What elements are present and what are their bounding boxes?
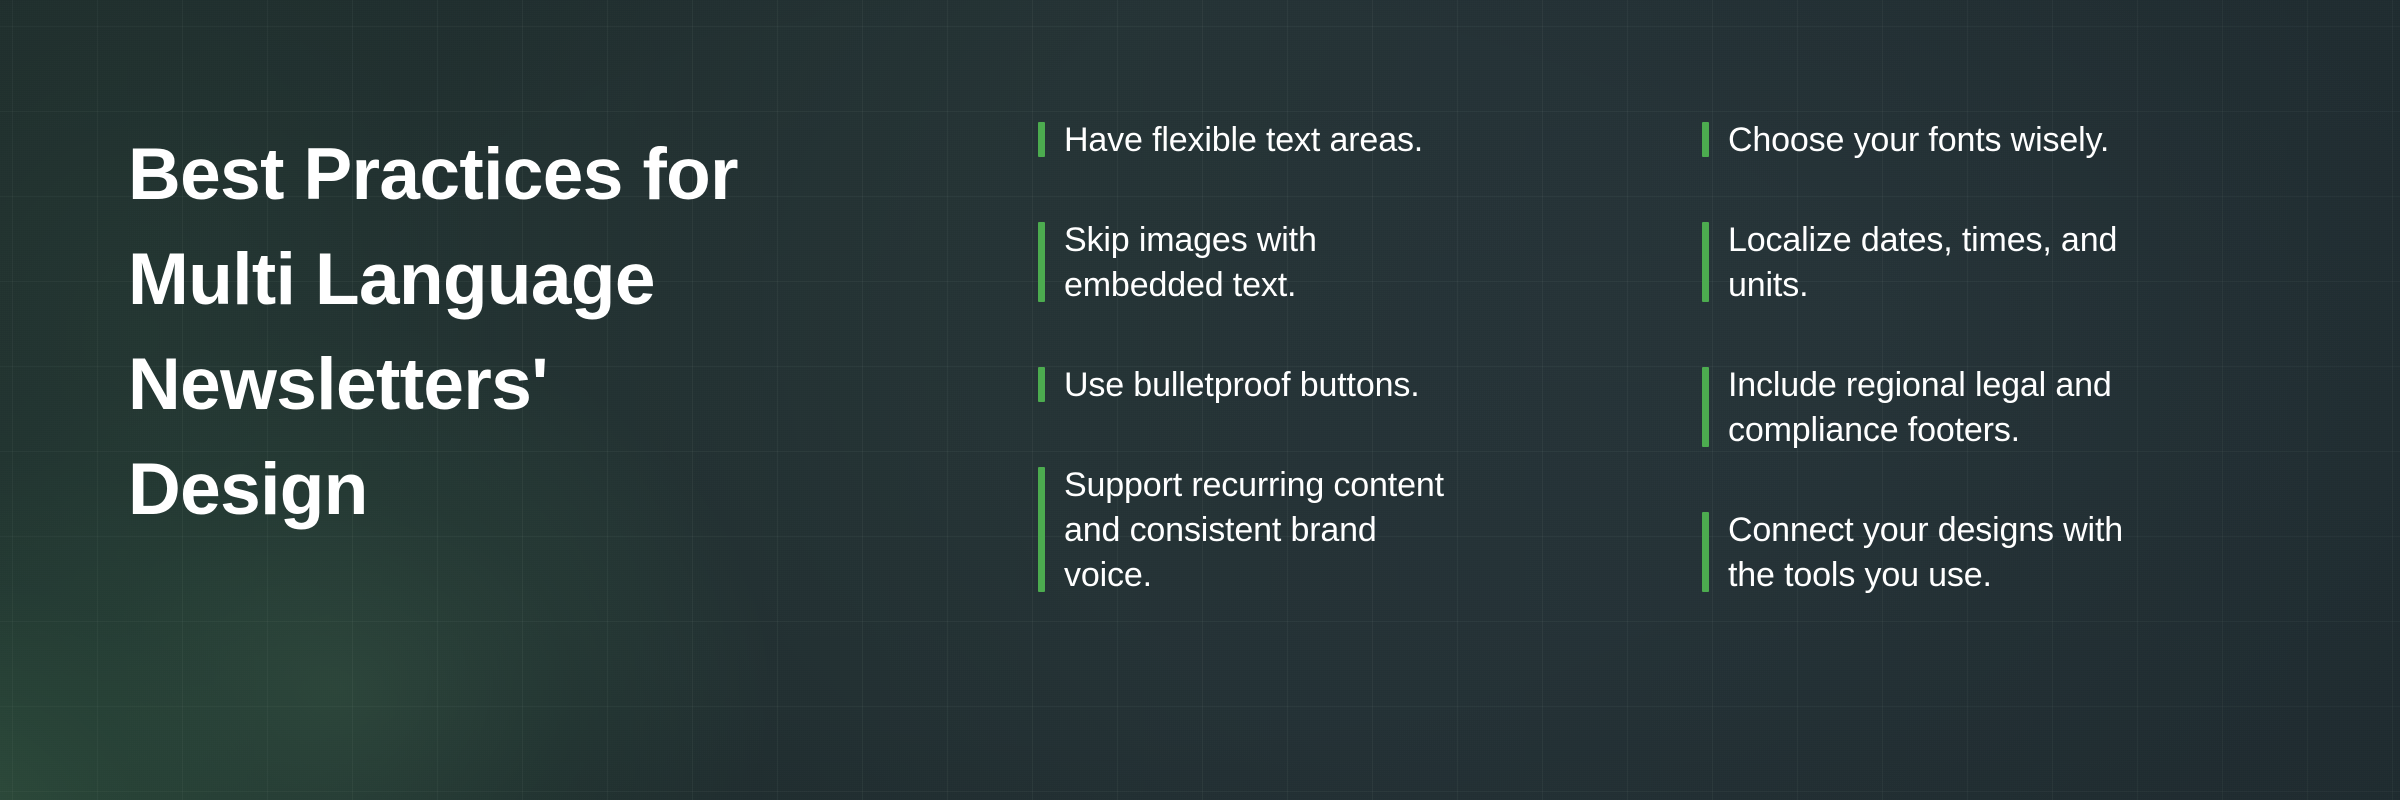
accent-bar-icon <box>1038 367 1045 402</box>
tips-column-middle: Have flexible text areas. Skip images wi… <box>1038 118 1638 598</box>
accent-bar-icon <box>1038 467 1045 592</box>
accent-bar-icon <box>1702 512 1709 592</box>
list-item-label: Include regional legal and compliance fo… <box>1728 363 2112 453</box>
list-item-label: Have flexible text areas. <box>1064 118 1423 163</box>
accent-bar-icon <box>1702 122 1709 157</box>
list-item: Support recurring content and consistent… <box>1038 463 1638 598</box>
accent-bar-icon <box>1702 367 1709 447</box>
list-item-label: Localize dates, times, and units. <box>1728 218 2117 308</box>
list-item: Use bulletproof buttons. <box>1038 363 1638 408</box>
list-item: Skip images with embedded text. <box>1038 218 1638 308</box>
slide-root: Best Practices for Multi Language Newsle… <box>0 0 2400 800</box>
list-item: Have flexible text areas. <box>1038 118 1638 163</box>
accent-bar-icon <box>1702 222 1709 302</box>
list-item-label: Use bulletproof buttons. <box>1064 363 1420 408</box>
tips-column-right: Choose your fonts wisely. Localize dates… <box>1702 118 2312 598</box>
list-item: Include regional legal and compliance fo… <box>1702 363 2312 453</box>
list-item: Choose your fonts wisely. <box>1702 118 2312 163</box>
list-item-label: Support recurring content and consistent… <box>1064 463 1444 598</box>
accent-bar-icon <box>1038 122 1045 157</box>
list-item-label: Connect your designs with the tools you … <box>1728 508 2123 598</box>
list-item-label: Choose your fonts wisely. <box>1728 118 2109 163</box>
accent-bar-icon <box>1038 222 1045 302</box>
list-item-label: Skip images with embedded text. <box>1064 218 1317 308</box>
list-item: Localize dates, times, and units. <box>1702 218 2312 308</box>
list-item: Connect your designs with the tools you … <box>1702 508 2312 598</box>
page-title: Best Practices for Multi Language Newsle… <box>128 122 918 542</box>
slide-content: Best Practices for Multi Language Newsle… <box>0 0 2400 800</box>
